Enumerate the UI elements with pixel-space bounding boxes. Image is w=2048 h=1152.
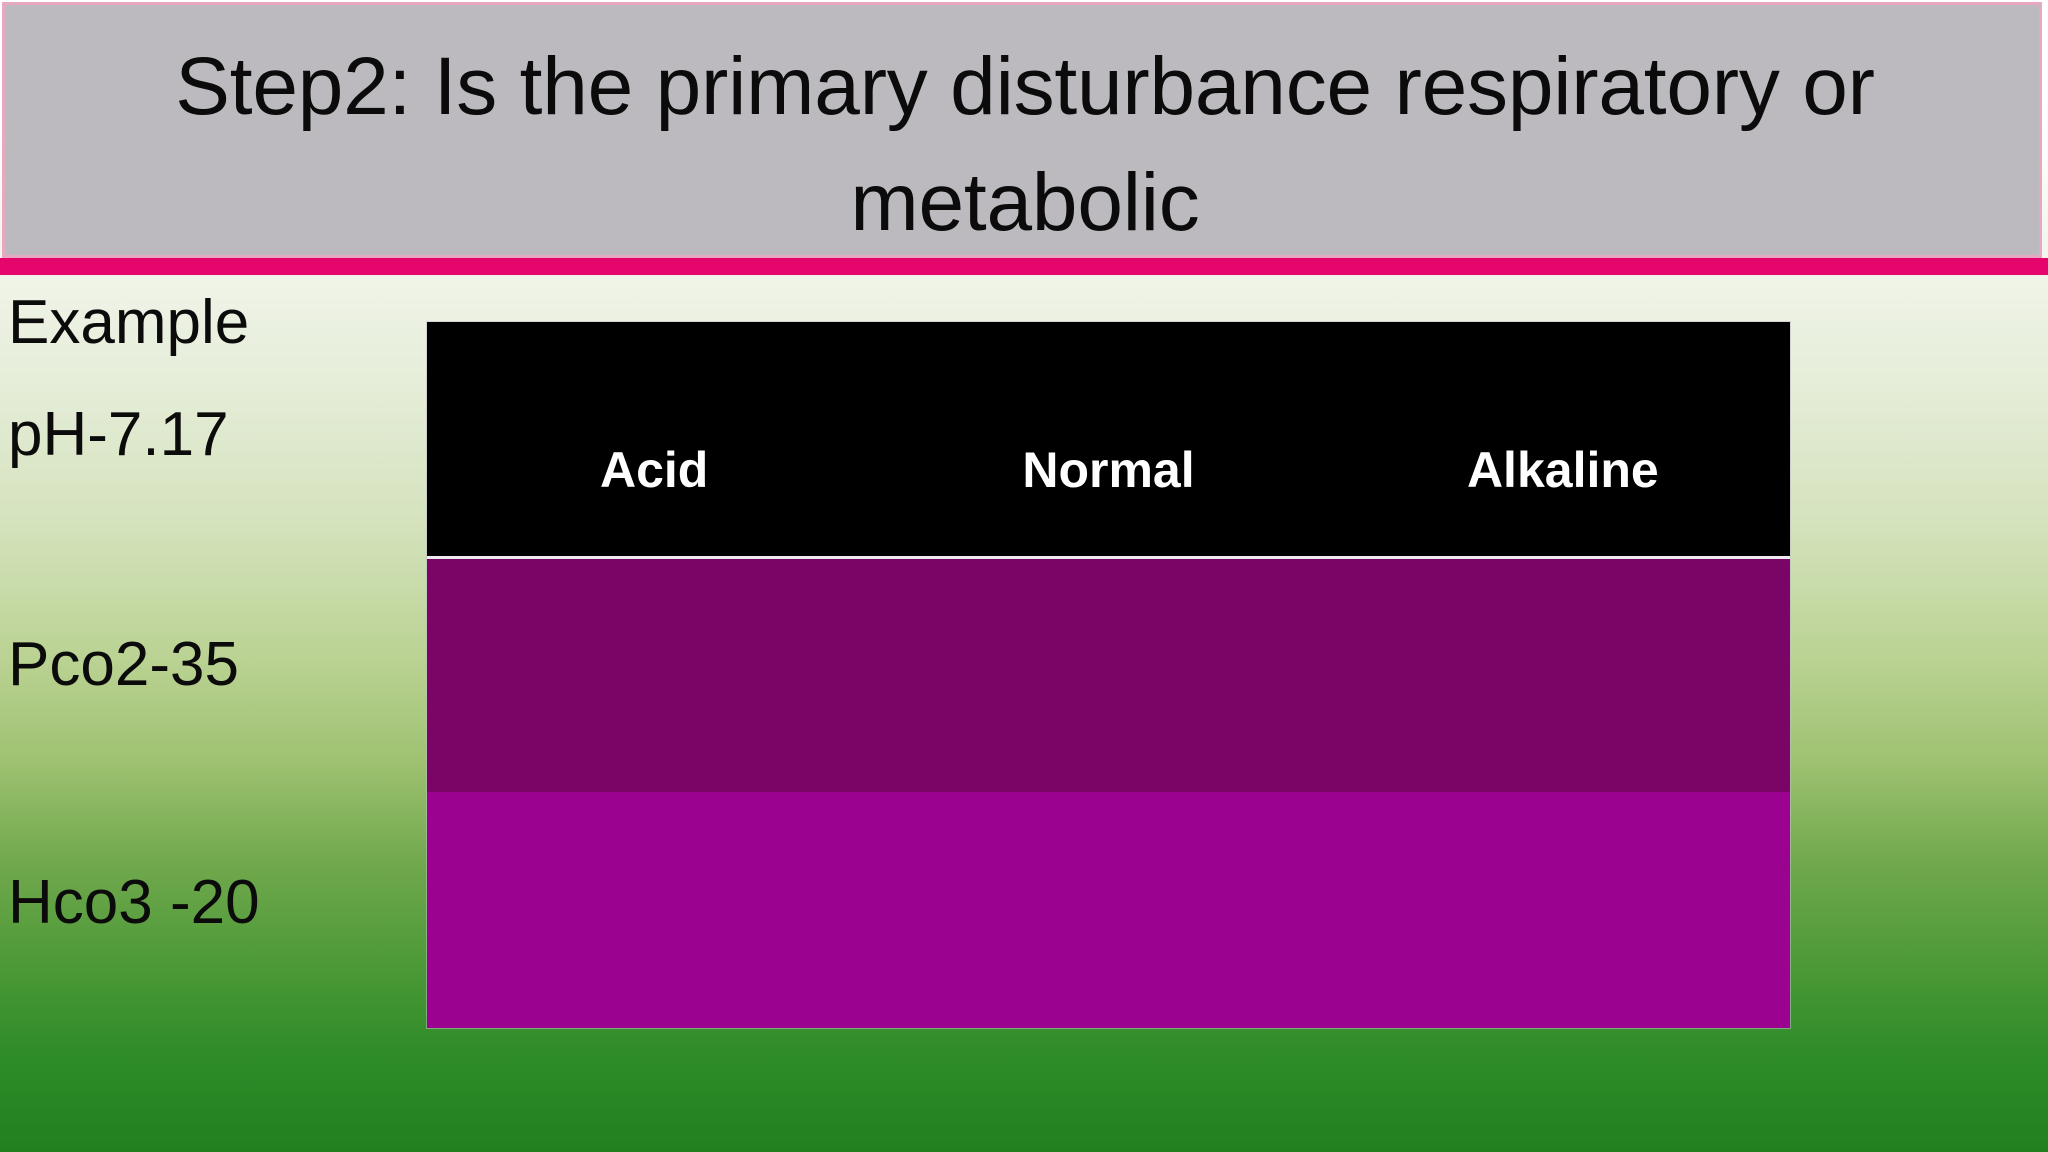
page-title: Step2: Is the primary disturbance respir…: [35, 29, 2015, 258]
table-cell: [1336, 557, 1790, 792]
table-header-row: Acid Normal Alkaline: [427, 322, 1790, 557]
reading-hco3: Hco3 -20: [8, 868, 260, 938]
column-header-acid: Acid: [427, 322, 881, 557]
table-cell: [881, 792, 1335, 1028]
example-heading: Example: [8, 288, 249, 358]
table-cell: [1336, 792, 1790, 1028]
title-banner: Step2: Is the primary disturbance respir…: [2, 2, 2042, 258]
table-cell: [881, 557, 1335, 792]
column-header-alkaline: Alkaline: [1336, 322, 1790, 557]
table-row: [427, 557, 1790, 792]
reading-pco2: Pco2-35: [8, 630, 239, 700]
acid-base-table: Acid Normal Alkaline: [427, 322, 1790, 1028]
table-row: [427, 792, 1790, 1028]
reading-ph: pH-7.17: [8, 400, 229, 470]
slide-canvas: Step2: Is the primary disturbance respir…: [0, 0, 2048, 1152]
table-cell: [427, 792, 881, 1028]
accent-divider-bar: [0, 258, 2048, 275]
table-cell: [427, 557, 881, 792]
column-header-normal: Normal: [881, 322, 1335, 557]
